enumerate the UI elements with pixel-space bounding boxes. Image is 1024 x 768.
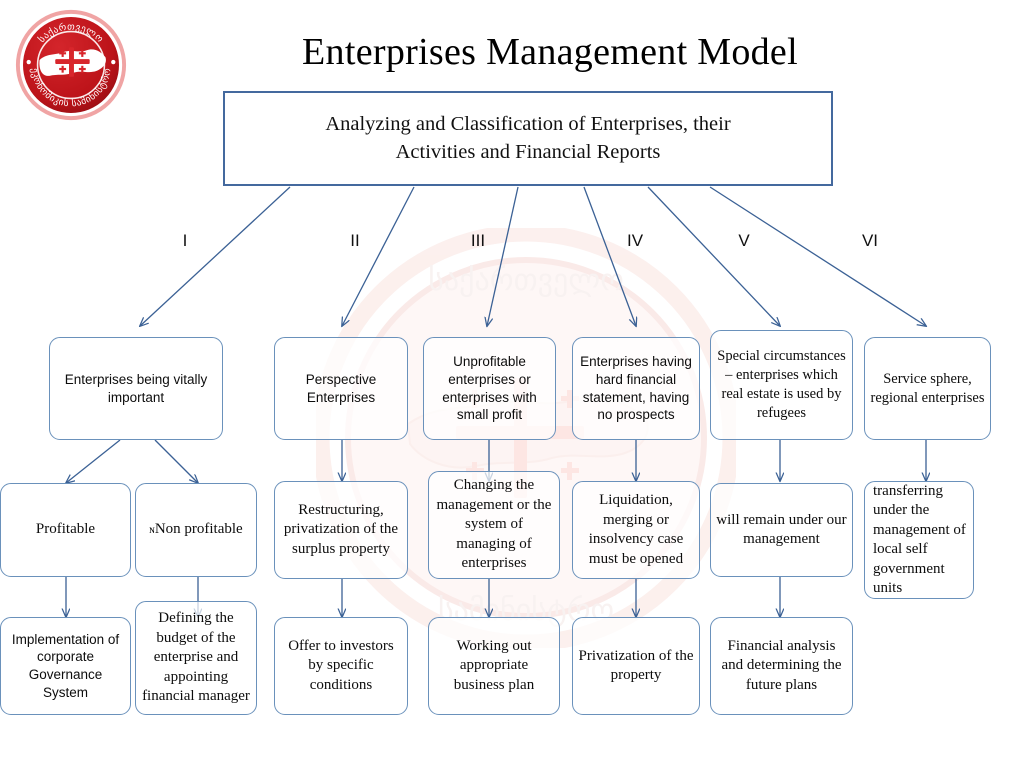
georgia-ministry-seal-logo: საქართველო ეკონომიკის სამინისტრო bbox=[12, 6, 130, 124]
branch-label-vi: VI bbox=[850, 231, 890, 251]
root-header-line2: Activities and Financial Reports bbox=[396, 141, 661, 163]
node-branch-v-level2[interactable]: will remain under our management bbox=[710, 483, 853, 577]
node-branch-vi-level1-label: Service sphere, regional enterprises bbox=[865, 370, 990, 408]
node-branch-v-level2-label: will remain under our management bbox=[711, 511, 852, 550]
node-branch-iv-level3-label: Privatization of the property bbox=[573, 647, 699, 686]
node-branch-i-child1-level2-label: Profitable bbox=[1, 520, 130, 540]
node-branch-iii-level2[interactable]: Changing the management or the system of… bbox=[428, 471, 560, 579]
svg-text:საქართველო: საქართველო bbox=[428, 263, 624, 298]
node-branch-ii-level2-label: Restructuring, privatization of the surp… bbox=[275, 501, 407, 560]
branch-label-iv: IV bbox=[615, 231, 655, 251]
node-branch-i-child2-level3[interactable]: Defining the budget of the enterprise an… bbox=[135, 601, 257, 715]
node-branch-vi-level1[interactable]: Service sphere, regional enterprises bbox=[864, 337, 991, 440]
node-branch-i-child1-level3-label: Implementation of corporate Governance S… bbox=[1, 631, 130, 701]
node-branch-i-child1-level2[interactable]: Profitable bbox=[0, 483, 131, 577]
node-branch-ii-level3-label: Offer to investors by specific condition… bbox=[275, 637, 407, 696]
root-header-text: Analyzing and Classification of Enterpri… bbox=[299, 111, 756, 165]
node-branch-vi-level2[interactable]: transferring under the management of loc… bbox=[864, 481, 974, 599]
node-branch-v-level1[interactable]: Special circumstances – enterprises whic… bbox=[710, 330, 853, 440]
node-branch-iv-level2-label: Liquidation, merging or insolvency case … bbox=[573, 491, 699, 569]
node-branch-i-level1[interactable]: Enterprises being vitally important bbox=[49, 337, 223, 440]
node-branch-iv-level3[interactable]: Privatization of the property bbox=[572, 617, 700, 715]
node-branch-iv-level1[interactable]: Enterprises having hard financial statem… bbox=[572, 337, 700, 440]
root-header-line1: Analyzing and Classification of Enterpri… bbox=[325, 113, 730, 135]
node-branch-v-level1-label: Special circumstances – enterprises whic… bbox=[711, 347, 852, 422]
node-branch-ii-level3[interactable]: Offer to investors by specific condition… bbox=[274, 617, 408, 715]
branch-label-v: V bbox=[724, 231, 764, 251]
node-branch-iii-level3[interactable]: Working out appropriate business plan bbox=[428, 617, 560, 715]
node-branch-iii-level3-label: Working out appropriate business plan bbox=[429, 637, 559, 696]
node-branch-vi-level2-label: transferring under the management of loc… bbox=[865, 482, 973, 599]
slide-canvas: საქართველო სამინისტრო საქართველო ეკონომი… bbox=[0, 0, 1024, 768]
node-branch-ii-level1-label: Perspective Enterprises bbox=[275, 371, 407, 406]
node-branch-v-level3[interactable]: Financial analysis and determining the f… bbox=[710, 617, 853, 715]
node-branch-iv-level1-label: Enterprises having hard financial statem… bbox=[573, 353, 699, 423]
node-branch-i-child2-level2-label: ɴNon profitable bbox=[136, 520, 256, 540]
branch-label-i: I bbox=[165, 231, 205, 251]
node-branch-iii-level2-label: Changing the management or the system of… bbox=[429, 476, 559, 574]
root-header-box: Analyzing and Classification of Enterpri… bbox=[223, 91, 833, 186]
node-branch-iv-level2[interactable]: Liquidation, merging or insolvency case … bbox=[572, 481, 700, 579]
branch-label-iii: III bbox=[458, 231, 498, 251]
branch-label-ii: II bbox=[335, 231, 375, 251]
node-branch-i-child1-level3[interactable]: Implementation of corporate Governance S… bbox=[0, 617, 131, 715]
node-branch-i-level1-label: Enterprises being vitally important bbox=[50, 371, 222, 406]
page-title: Enterprises Management Model bbox=[200, 30, 900, 74]
node-branch-ii-level2[interactable]: Restructuring, privatization of the surp… bbox=[274, 481, 408, 579]
node-branch-i-child2-level3-label: Defining the budget of the enterprise an… bbox=[136, 609, 256, 707]
node-branch-i-child2-level2[interactable]: ɴNon profitable bbox=[135, 483, 257, 577]
node-branch-ii-level1[interactable]: Perspective Enterprises bbox=[274, 337, 408, 440]
node-branch-iii-level1-label: Unprofitable enterprises or enterprises … bbox=[424, 353, 555, 423]
node-branch-iii-level1[interactable]: Unprofitable enterprises or enterprises … bbox=[423, 337, 556, 440]
node-branch-v-level3-label: Financial analysis and determining the f… bbox=[711, 637, 852, 696]
